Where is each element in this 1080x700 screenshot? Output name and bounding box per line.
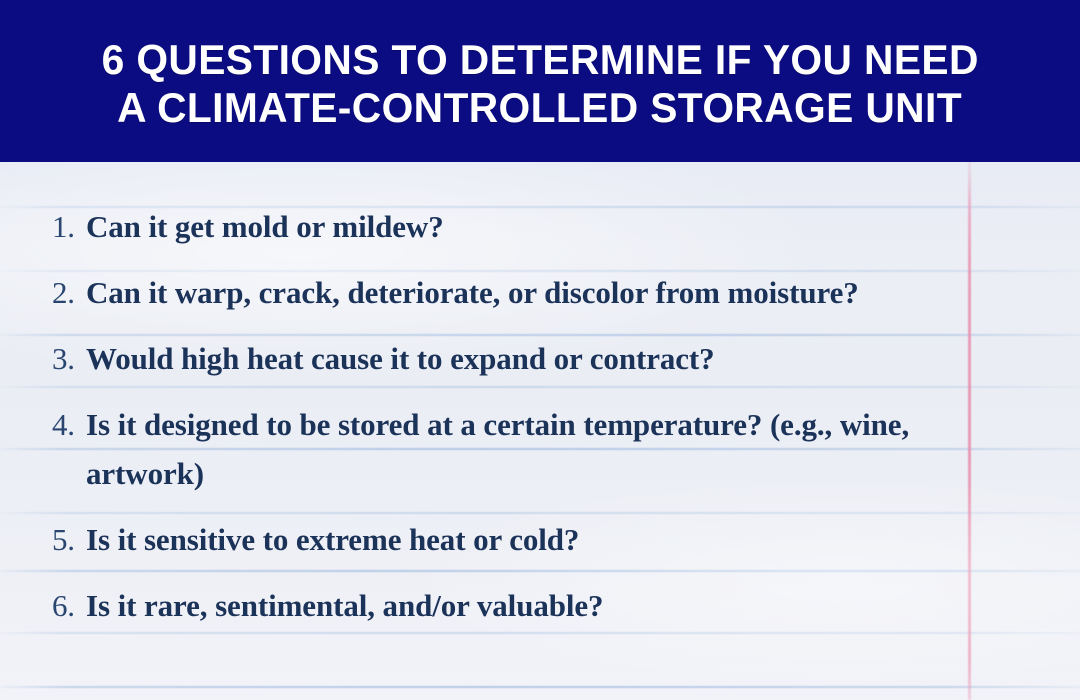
paper-rule <box>0 686 1080 688</box>
list-item: 1. Can it get mold or mildew? <box>52 202 1060 251</box>
list-item-text: Is it rare, sentimental, and/or valuable… <box>86 581 1060 630</box>
header-banner: 6 QUESTIONS TO DETERMINE IF YOU NEED A C… <box>0 0 1080 162</box>
list-item-text: Would high heat cause it to expand or co… <box>86 334 1060 383</box>
list-item-text: Can it get mold or mildew? <box>86 202 1060 251</box>
list-item: 5. Is it sensitive to extreme heat or co… <box>52 515 1060 564</box>
list-item-number: 2. <box>52 268 86 317</box>
poster-title-line-1: 6 QUESTIONS TO DETERMINE IF YOU NEED <box>101 36 978 84</box>
list-item-number: 3. <box>52 334 86 383</box>
notebook-paper: 1. Can it get mold or mildew? 2. Can it … <box>0 162 1080 700</box>
list-item-text: Can it warp, crack, deteriorate, or disc… <box>86 268 1060 317</box>
list-item-number: 4. <box>52 400 86 449</box>
list-item: 4. Is it designed to be stored at a cert… <box>52 400 1060 498</box>
list-item: 6. Is it rare, sentimental, and/or valua… <box>52 581 1060 630</box>
list-item-text: Is it sensitive to extreme heat or cold? <box>86 515 1060 564</box>
list-item-number: 1. <box>52 202 86 251</box>
question-list: 1. Can it get mold or mildew? 2. Can it … <box>0 162 1080 647</box>
list-item-text: Is it designed to be stored at a certain… <box>86 400 1021 498</box>
list-item-number: 5. <box>52 515 86 564</box>
poster-root: 6 QUESTIONS TO DETERMINE IF YOU NEED A C… <box>0 0 1080 700</box>
poster-title-line-2: A CLIMATE-CONTROLLED STORAGE UNIT <box>118 84 963 132</box>
list-item: 3. Would high heat cause it to expand or… <box>52 334 1060 383</box>
list-item-number: 6. <box>52 581 86 630</box>
list-item: 2. Can it warp, crack, deteriorate, or d… <box>52 268 1060 317</box>
